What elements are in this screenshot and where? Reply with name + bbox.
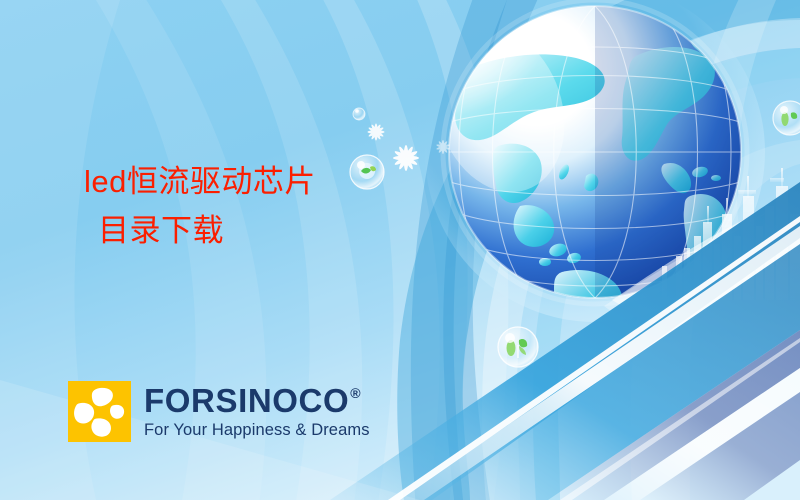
- bubble-small: [353, 108, 365, 120]
- logo-tagline: For Your Happiness & Dreams: [144, 422, 370, 439]
- slide-canvas: led恒流驱动芯片 目录下载 FORSINOCO ®: [0, 0, 800, 500]
- registered-trademark-icon: ®: [350, 386, 361, 400]
- logo-wordmark: FORSINOCO ®: [144, 384, 370, 417]
- company-logo: FORSINOCO ® For Your Happiness & Dreams: [68, 381, 370, 442]
- headline-line-1: led恒流驱动芯片: [84, 166, 414, 197]
- four-petal-pinwheel-icon: [74, 386, 124, 437]
- logo-text-block: FORSINOCO ® For Your Happiness & Dreams: [144, 381, 370, 439]
- bubble-with-leaf: [773, 101, 800, 135]
- logo-wordmark-text: FORSINOCO: [144, 384, 349, 417]
- logo-mark-tile: [68, 381, 131, 442]
- bubble-with-leaf: [498, 327, 538, 367]
- headline-text-block: led恒流驱动芯片 目录下载: [84, 166, 414, 246]
- headline-line-2: 目录下载: [84, 215, 414, 246]
